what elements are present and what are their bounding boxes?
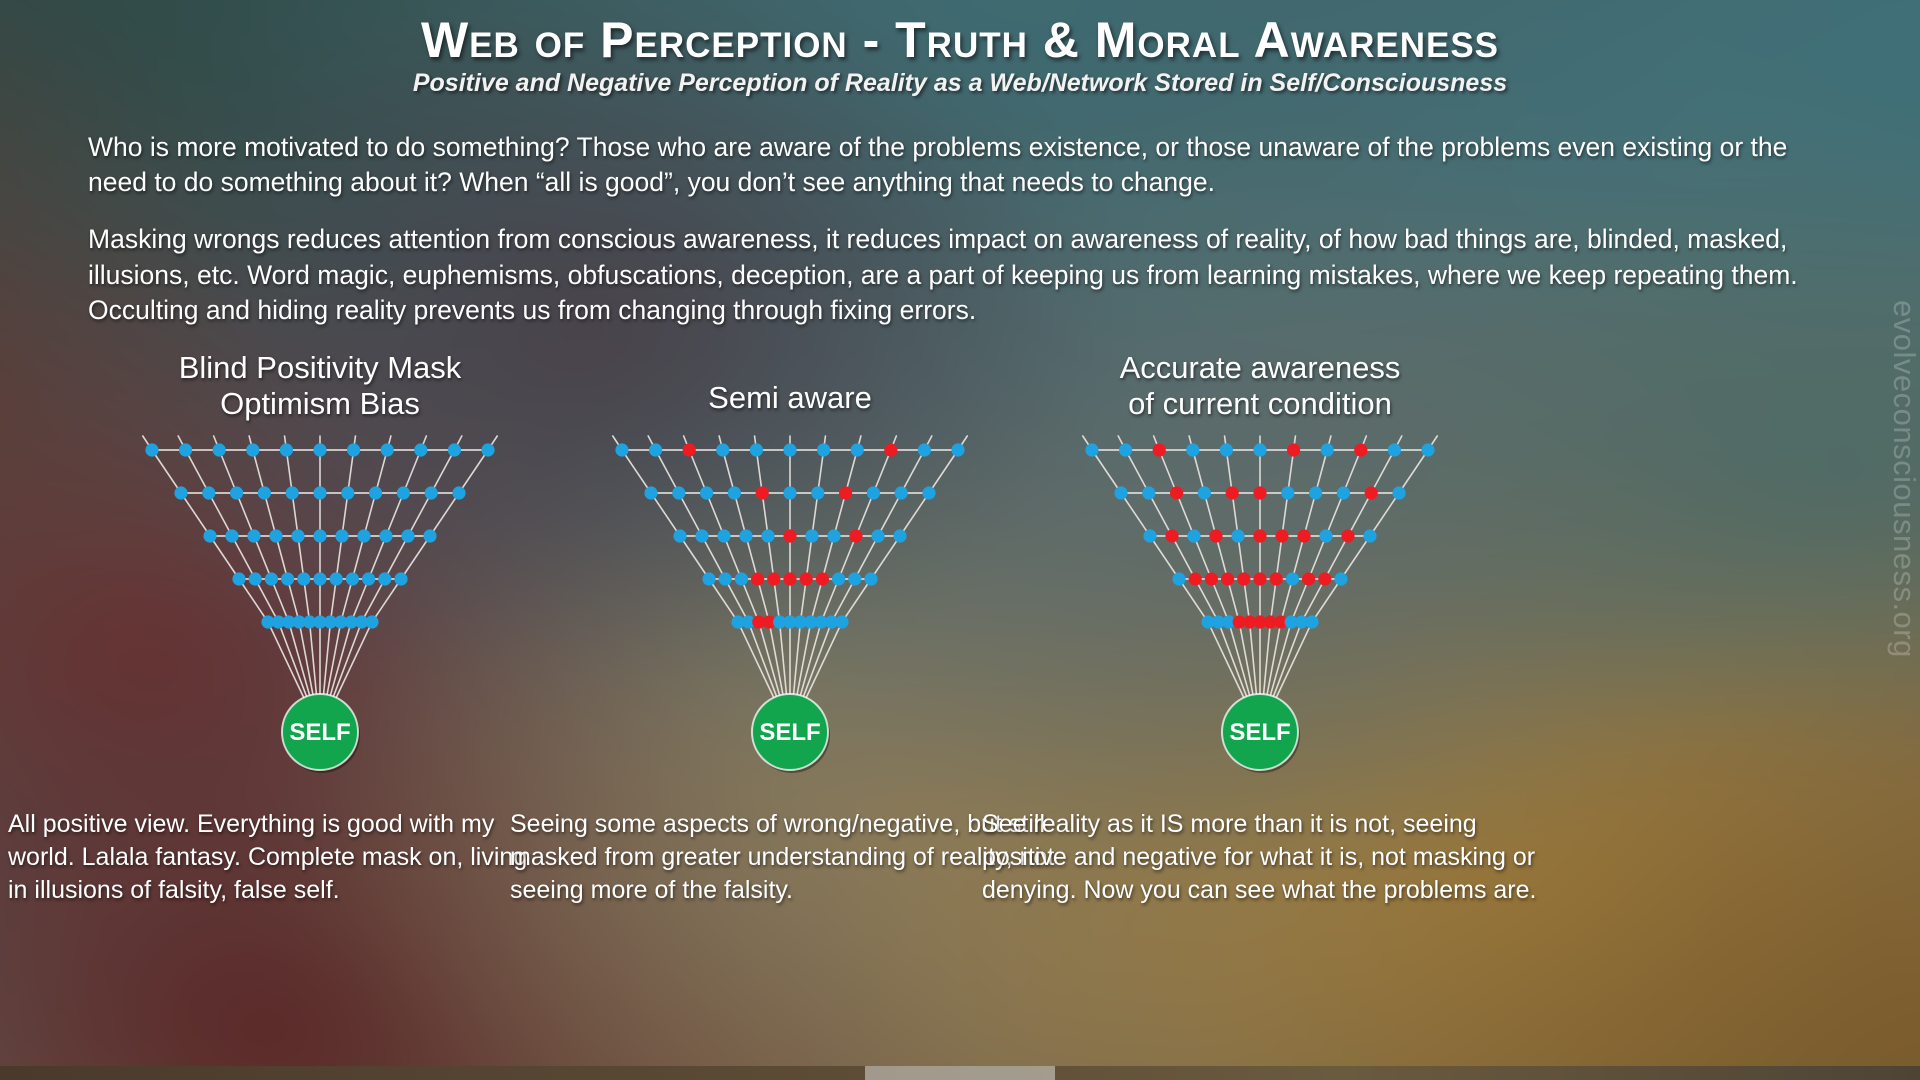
web-node-negative (756, 487, 769, 500)
web-node-positive (700, 487, 713, 500)
web-node-positive (394, 573, 407, 586)
web-node-positive (401, 530, 414, 543)
web-node-negative (1253, 530, 1266, 543)
web-node-positive (1143, 530, 1156, 543)
web-node-positive (381, 444, 394, 457)
web-node-positive (362, 573, 375, 586)
web-node-positive (716, 444, 729, 457)
web-node-positive (145, 444, 158, 457)
web-node-positive (1321, 444, 1334, 457)
web-node-positive (895, 487, 908, 500)
intro-text-block: Who is more motivated to do something? T… (88, 130, 1836, 328)
web-node-positive (313, 487, 326, 500)
web-node-positive (179, 444, 192, 457)
web-node-positive (258, 487, 271, 500)
web-node-positive (672, 487, 685, 500)
web-node-positive (615, 444, 628, 457)
self-node: SELF (282, 694, 360, 773)
web-node-negative (783, 530, 796, 543)
web-node-positive (848, 573, 861, 586)
web-node-negative (1275, 530, 1288, 543)
web-node-positive (728, 487, 741, 500)
column-3-heading-line-2: of current condition (940, 386, 1580, 422)
web-node-positive (918, 444, 931, 457)
web-node-positive (369, 487, 382, 500)
web-node-positive (1253, 444, 1266, 457)
column-3-heading-line-1: Accurate awareness (940, 350, 1580, 386)
web-node-positive (867, 487, 880, 500)
web-node-positive (1305, 616, 1318, 629)
web-node-positive (448, 444, 461, 457)
web-node-positive (425, 487, 438, 500)
web-node-negative (1237, 573, 1250, 586)
web-node-positive (1281, 487, 1294, 500)
site-watermark: evolveconsciousness.org (1886, 300, 1920, 658)
web-node-positive (649, 444, 662, 457)
web-node-positive (297, 573, 310, 586)
web-node-positive (783, 444, 796, 457)
web-node-positive (1172, 573, 1185, 586)
web-node-positive (232, 573, 245, 586)
web-node-negative (1209, 530, 1222, 543)
web-node-positive (335, 530, 348, 543)
web-node-positive (452, 487, 465, 500)
web-node-negative (884, 444, 897, 457)
web-node-positive (817, 444, 830, 457)
web-node-negative (1165, 530, 1178, 543)
web-node-positive (835, 616, 848, 629)
web-node-positive (174, 487, 187, 500)
web-node-positive (1388, 444, 1401, 457)
web-diagram-3: SELF (940, 432, 1580, 792)
web-node-positive (249, 573, 262, 586)
web-node-negative (1341, 530, 1354, 543)
web-node-positive (922, 487, 935, 500)
web-node-positive (247, 530, 260, 543)
self-node: SELF (1222, 694, 1300, 773)
web-node-positive (1186, 444, 1199, 457)
web-node-negative (783, 573, 796, 586)
web-node-positive (330, 573, 343, 586)
web-node-positive (281, 573, 294, 586)
web-node-positive (365, 616, 378, 629)
web-node-positive (414, 444, 427, 457)
web-node-positive (695, 530, 708, 543)
web-node-negative (1365, 487, 1378, 500)
web-node-positive (644, 487, 657, 500)
page-title: Web of Perception - Truth & Moral Awaren… (0, 0, 1920, 67)
web-node-negative (1189, 573, 1202, 586)
web-node-negative (1221, 573, 1234, 586)
column-3-heading: Accurate awareness of current condition (940, 350, 1580, 432)
web-node-positive (1220, 444, 1233, 457)
web-node-positive (864, 573, 877, 586)
web-node-positive (202, 487, 215, 500)
web-node-negative (1170, 487, 1183, 500)
self-label: SELF (759, 719, 820, 746)
web-node-positive (827, 530, 840, 543)
web-node-positive (347, 444, 360, 457)
web-node-positive (246, 444, 259, 457)
web-node-negative (1153, 444, 1166, 457)
web-node-positive (719, 573, 732, 586)
web-node-positive (702, 573, 715, 586)
web-node-negative (1205, 573, 1218, 586)
web-node-positive (805, 530, 818, 543)
web-node-positive (739, 530, 752, 543)
web-node-negative (1253, 487, 1266, 500)
web-node-positive (1286, 573, 1299, 586)
web-node-positive (851, 444, 864, 457)
web-node-negative (1253, 573, 1266, 586)
web-node-positive (213, 444, 226, 457)
web-node-positive (1114, 487, 1127, 500)
web-node-negative (751, 573, 764, 586)
web-node-positive (291, 530, 304, 543)
intro-paragraph-1: Who is more motivated to do something? T… (88, 130, 1836, 200)
page-subtitle: Positive and Negative Perception of Real… (0, 69, 1920, 98)
web-node-positive (832, 573, 845, 586)
web-node-negative (1302, 573, 1315, 586)
web-node-positive (750, 444, 763, 457)
self-node: SELF (752, 694, 830, 773)
web-node-positive (1392, 487, 1405, 500)
web-node-positive (871, 530, 884, 543)
web-node-positive (280, 444, 293, 457)
web-node-positive (1363, 530, 1376, 543)
web-node-positive (203, 530, 216, 543)
web-node-positive (230, 487, 243, 500)
web-node-positive (1319, 530, 1332, 543)
web-node-positive (811, 487, 824, 500)
web-node-positive (1334, 573, 1347, 586)
web-node-positive (313, 573, 326, 586)
web-node-positive (1085, 444, 1098, 457)
web-node-positive (357, 530, 370, 543)
web-node-positive (378, 573, 391, 586)
web-node-positive (397, 487, 410, 500)
web-node-positive (313, 530, 326, 543)
web-node-positive (265, 573, 278, 586)
web-columns: Blind Positivity Mask Optimism Bias SELF… (0, 350, 1920, 1010)
web-node-positive (346, 573, 359, 586)
web-node-negative (1287, 444, 1300, 457)
web-node-negative (1297, 530, 1310, 543)
web-node-negative (1270, 573, 1283, 586)
web-node-positive (1421, 444, 1434, 457)
web-node-negative (1354, 444, 1367, 457)
web-node-positive (735, 573, 748, 586)
column-accurate-awareness: Accurate awareness of current condition … (940, 350, 1580, 906)
web-node-positive (341, 487, 354, 500)
web-node-positive (1231, 530, 1244, 543)
web-node-negative (849, 530, 862, 543)
web-node-negative (839, 487, 852, 500)
web-node-positive (313, 444, 326, 457)
web-node-negative (767, 573, 780, 586)
web-node-negative (1226, 487, 1239, 500)
web-node-negative (1318, 573, 1331, 586)
web-node-positive (1142, 487, 1155, 500)
web-node-negative (800, 573, 813, 586)
web-node-positive (717, 530, 730, 543)
web-node-positive (673, 530, 686, 543)
web-node-negative (816, 573, 829, 586)
web-node-positive (1309, 487, 1322, 500)
self-label: SELF (289, 719, 350, 746)
web-node-positive (1119, 444, 1132, 457)
web-node-positive (1198, 487, 1211, 500)
intro-paragraph-2: Masking wrongs reduces attention from co… (88, 222, 1836, 328)
web-node-positive (379, 530, 392, 543)
web-node-positive (1337, 487, 1350, 500)
web-node-positive (783, 487, 796, 500)
web-node-positive (893, 530, 906, 543)
web-node-negative (683, 444, 696, 457)
column-3-caption: See reality as it IS more than it is not… (940, 808, 1580, 906)
web-node-positive (761, 530, 774, 543)
web-node-positive (423, 530, 436, 543)
web-node-positive (225, 530, 238, 543)
web-node-positive (286, 487, 299, 500)
self-label: SELF (1229, 719, 1290, 746)
web-node-positive (1187, 530, 1200, 543)
web-node-positive (269, 530, 282, 543)
